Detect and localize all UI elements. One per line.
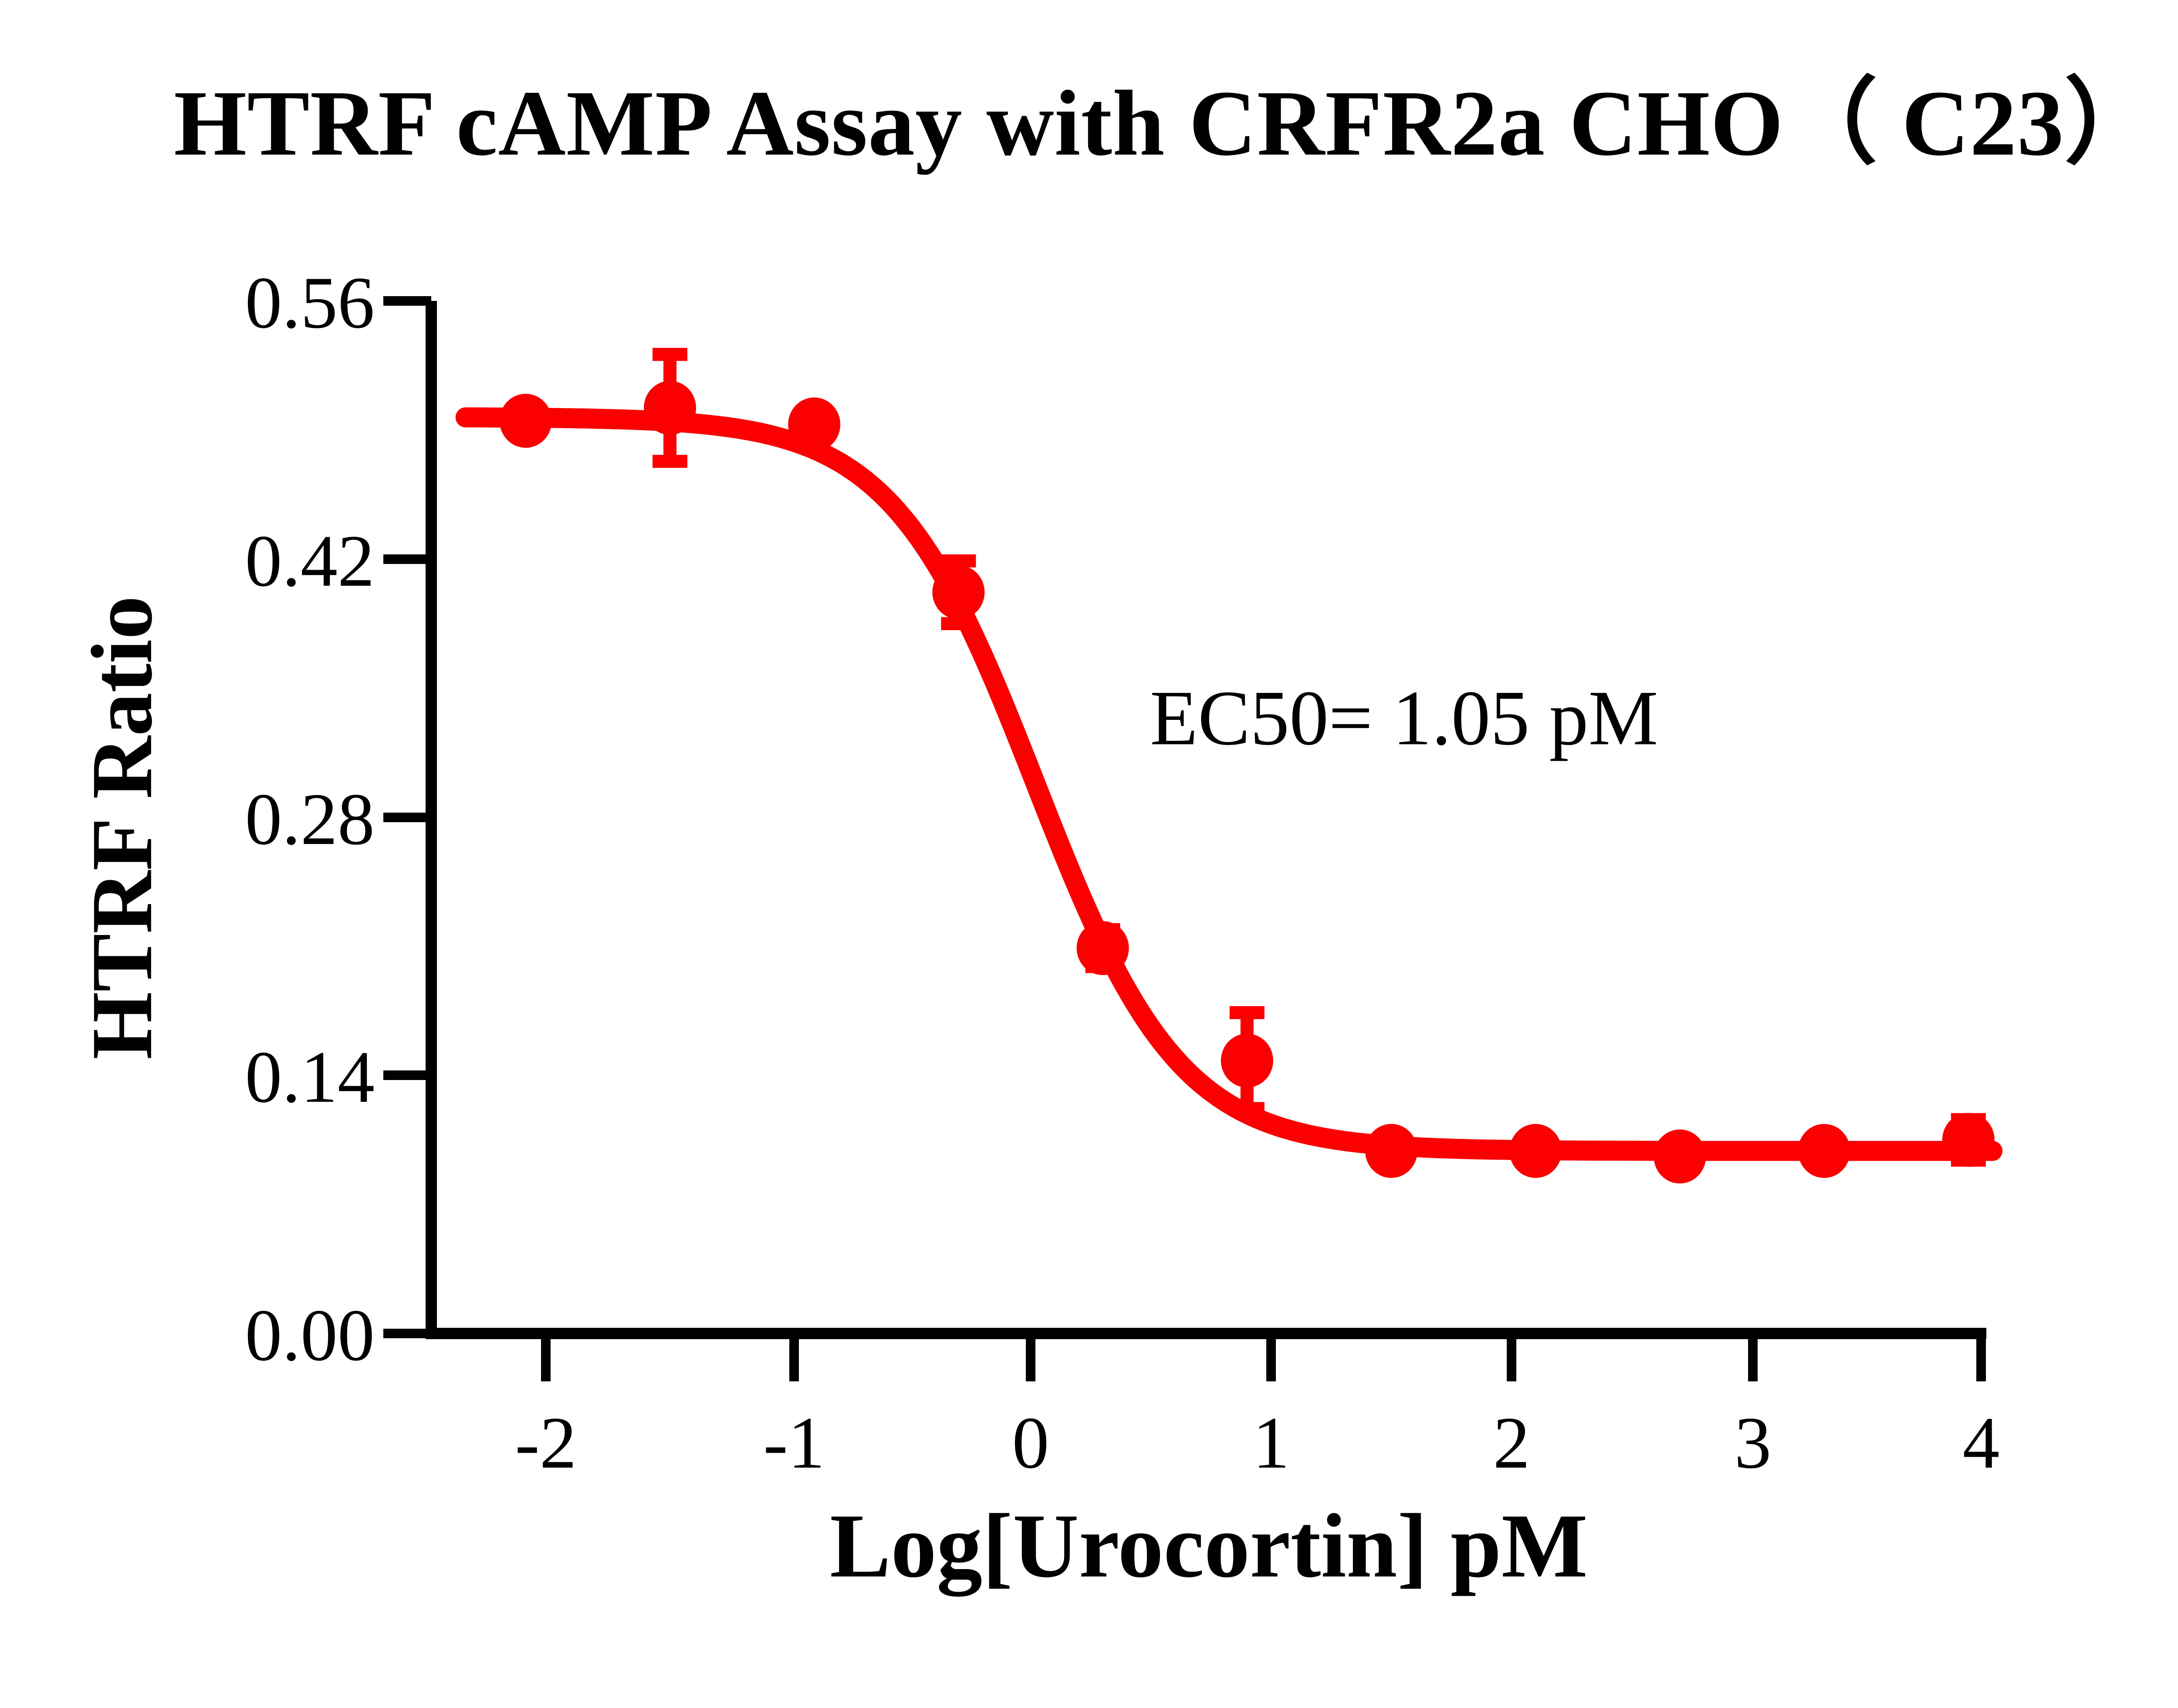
y-axis-title: HTRF Ratio — [57, 305, 187, 1350]
x-tick-label: 1 — [1253, 1402, 1290, 1484]
y-tick-label: 0.42 — [245, 520, 375, 602]
data-point-marker — [788, 398, 840, 452]
x-axis-ticks — [546, 1333, 1981, 1381]
x-tick-label: 0 — [1012, 1402, 1049, 1484]
x-tick-label: 3 — [1735, 1402, 1772, 1484]
data-point-marker — [1798, 1124, 1850, 1178]
ec50-annotation: EC50= 1.05 pM — [1150, 673, 1658, 763]
y-axis-title-text: HTRF Ratio — [72, 596, 172, 1060]
data-point-marker — [932, 565, 984, 619]
data-point-marker — [1942, 1113, 1995, 1167]
x-tick-label: -1 — [763, 1402, 825, 1484]
data-point-marker — [1221, 1033, 1273, 1087]
chart-page: HTRF cAMP Assay with CRFR2a CHO（ C23） 0.… — [0, 0, 2178, 1708]
data-point-marker — [500, 394, 552, 448]
y-tick-label: 0.14 — [245, 1036, 375, 1118]
data-point-marker — [644, 381, 696, 435]
data-point-marker — [1654, 1130, 1706, 1184]
data-point-group — [500, 381, 1995, 1184]
x-tick-label: 2 — [1493, 1402, 1530, 1484]
plot-canvas: 0.56 0.42 0.28 0.14 0.00 -2 -1 0 1 2 3 4 — [0, 0, 2178, 1708]
data-point-marker — [1077, 921, 1129, 975]
x-tick-label: 4 — [1963, 1402, 2000, 1484]
data-point-marker — [1509, 1124, 1562, 1178]
x-tick-label: -2 — [515, 1402, 577, 1484]
fit-curve — [466, 417, 1992, 1151]
x-axis-title: Log[Urocortin] pM — [431, 1494, 1986, 1599]
y-tick-label: 0.28 — [245, 778, 375, 860]
y-tick-label: 0.56 — [245, 262, 375, 344]
y-tick-label: 0.00 — [245, 1294, 375, 1376]
y-axis-ticks — [383, 301, 431, 1333]
data-point-marker — [1365, 1124, 1417, 1178]
